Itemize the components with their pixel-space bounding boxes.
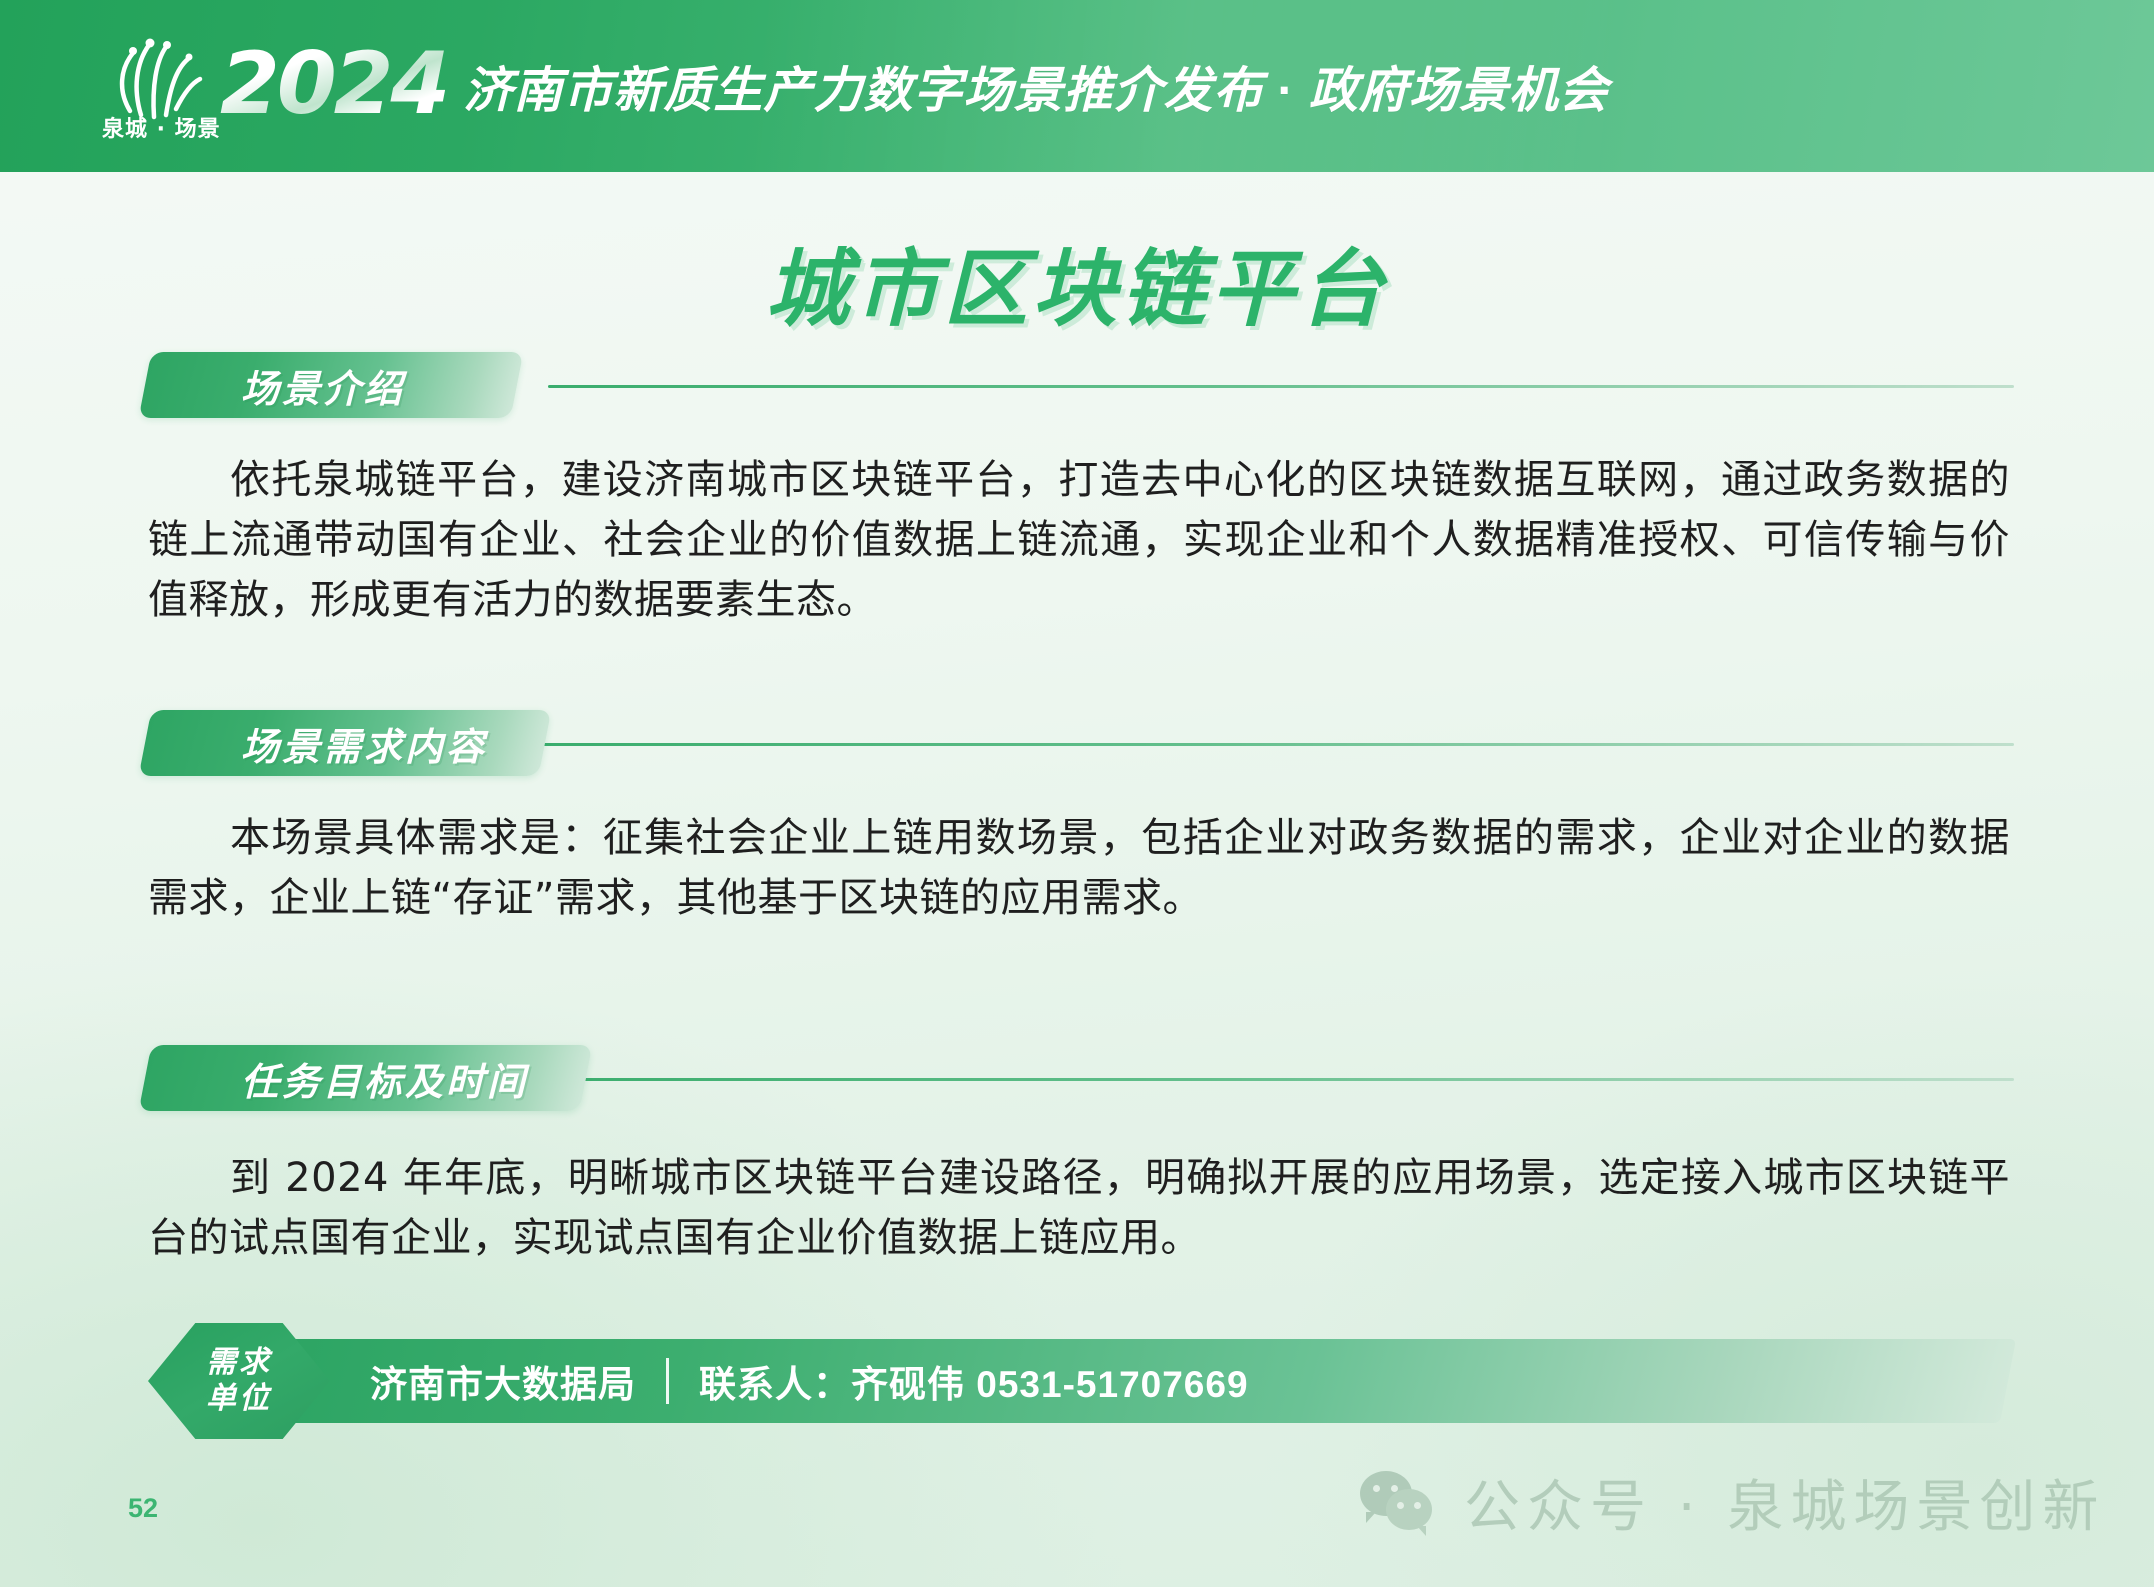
wechat-eye-4 [1414, 1502, 1421, 1509]
section-2-body: 本场景具体需求是：征集社会企业上链用数场景，包括企业对政务数据的需求，企业对企业… [148, 808, 2010, 928]
wechat-eye-3 [1397, 1502, 1404, 1509]
section-3-heading: 任务目标及时间 [241, 1051, 528, 1106]
section-2-heading: 场景需求内容 [241, 716, 487, 771]
wechat-bubble-small [1386, 1489, 1432, 1530]
demand-unit-badge-line1: 需求 [206, 1345, 272, 1381]
section-3-heading-row: 任务目标及时间 [0, 1045, 2154, 1123]
section-2-rule [540, 743, 2014, 746]
section-task-goal-time: 任务目标及时间 [0, 1045, 2154, 1123]
section-2-heading-row: 场景需求内容 [0, 710, 2154, 788]
banner-title-separator: · [1263, 64, 1308, 118]
section-3-body: 到 2024 年年底，明晰城市区块链平台建设路径，明确拟开展的应用场景，选定接入… [148, 1148, 2010, 1268]
section-1-heading: 场景介绍 [241, 358, 405, 413]
banner-year: 2024 [220, 41, 447, 127]
section-3-rule [540, 1078, 2014, 1081]
wechat-eye-1 [1373, 1485, 1380, 1492]
contact-text-group: 济南市大数据局 联系人：齐砚伟 0531-51707669 [370, 1339, 1249, 1423]
section-demand-content: 场景需求内容 [0, 710, 2154, 788]
banner-content: 泉城 · 场景 2024 济南市新质生产力数字场景推介发布·政府场景机会 [100, 0, 1609, 172]
organization-name: 济南市大数据局 [370, 1354, 636, 1408]
quancheng-spring-logo-icon: 泉城 · 场景 [100, 29, 208, 149]
demand-unit-badge-line2: 单位 [206, 1381, 272, 1417]
header-banner: 泉城 · 场景 2024 济南市新质生产力数字场景推介发布·政府场景机会 [0, 0, 2154, 172]
demand-unit-footer: 需求 单位 济南市大数据局 联系人：齐砚伟 0531-51707669 [148, 1335, 2008, 1427]
section-3-ribbon: 任务目标及时间 [139, 1045, 593, 1111]
contact-divider [666, 1358, 669, 1404]
section-1-heading-row: 场景介绍 [0, 352, 2154, 430]
wechat-watermark: 公众号 · 泉城场景创新 [1360, 1462, 2105, 1543]
page-title: 城市区块链平台 [0, 222, 2154, 343]
banner-title-right: 政府场景机会 [1309, 64, 1609, 118]
banner-title-left: 济南市新质生产力数字场景推介发布 [463, 64, 1263, 118]
wechat-icon [1360, 1471, 1438, 1535]
slide-page: 泉城 · 场景 2024 济南市新质生产力数字场景推介发布·政府场景机会 城市区… [0, 0, 2154, 1587]
section-1-body: 依托泉城链平台，建设济南城市区块链平台，打造去中心化的区块链数据互联网，通过政务… [148, 450, 2010, 630]
section-scene-introduction: 场景介绍 [0, 352, 2154, 430]
logo-wordmark: 泉城 · 场景 [102, 111, 208, 143]
section-1-rule [548, 385, 2014, 388]
wechat-eye-2 [1391, 1485, 1398, 1492]
section-1-ribbon: 场景介绍 [139, 352, 524, 418]
page-number: 52 [128, 1493, 158, 1524]
banner-title: 济南市新质生产力数字场景推介发布·政府场景机会 [463, 51, 1608, 122]
watermark-text: 公众号 · 泉城场景创新 [1464, 1462, 2105, 1543]
section-2-ribbon: 场景需求内容 [139, 710, 552, 776]
contact-person-phone: 联系人：齐砚伟 0531-51707669 [699, 1354, 1249, 1408]
